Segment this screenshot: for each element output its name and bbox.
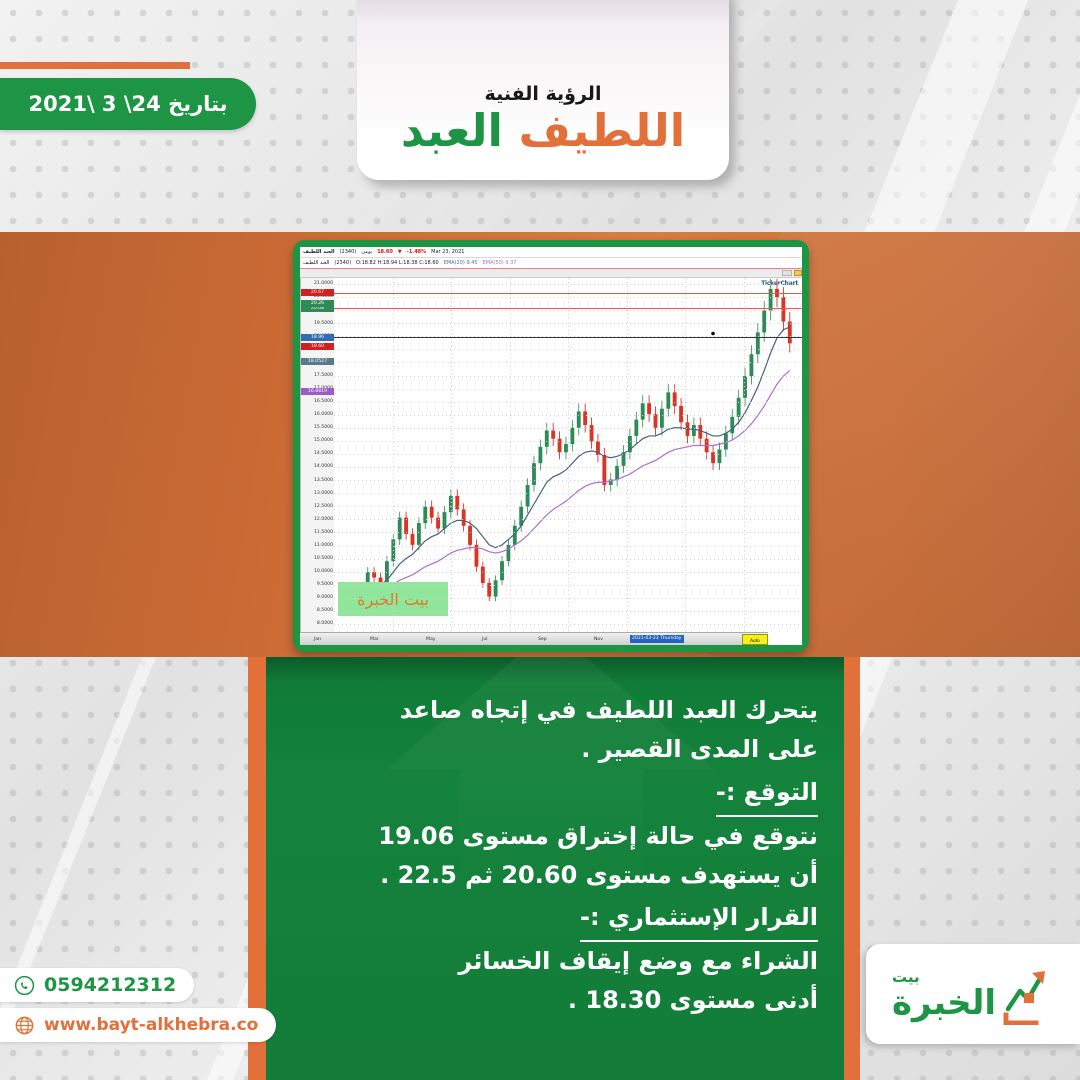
chart-timeframe: يومي (361, 247, 372, 258)
chart-last-price: 18.60 (377, 247, 393, 258)
grid-line-vertical (510, 278, 511, 632)
time-axis-selected-date: 2021-03-23 Thursday (630, 635, 684, 643)
price-axis-tick: 10.0000 (314, 569, 333, 574)
time-axis-tick: Sep (538, 637, 547, 642)
price-marker: 18.96 (301, 334, 334, 341)
price-axis-tick: 12.0000 (314, 517, 333, 522)
chart-info-row-2: العبد اللطيف (2340) O:18.82 H:18.94 L:18… (300, 258, 802, 269)
chart-price-axis: 21.000020.500020.000019.500019.000018.50… (300, 278, 334, 632)
price-marker: 20.26 (301, 300, 334, 307)
chart-ohlc: O:18.82 H:18.94 L:18.38 C:18.60 (356, 258, 439, 269)
price-marker: 18.0527 (301, 358, 334, 365)
chart-application-window[interactable]: العبد اللطيف (2340) يومي 18.60 ▼ -1.48% … (300, 247, 802, 645)
time-axis-tick: Jan (314, 637, 321, 642)
chart-plot-area[interactable]: TickerChart بيت الخبرة (334, 278, 802, 632)
analysis-line: يتحرك العبد اللطيف في إتجاه صاعد (292, 691, 818, 730)
chart-time-axis[interactable]: JanMarMayJulSepNovMar2021-03-23 Thursday… (300, 632, 768, 645)
time-axis-tick: Mar (370, 637, 379, 642)
toolbar-cursor-icon[interactable] (794, 270, 802, 276)
price-axis-tick: 14.0000 (314, 464, 333, 469)
time-axis-tick: Jul (482, 637, 488, 642)
forecast-heading: التوقع :- (716, 773, 818, 817)
price-axis-tick: 9.5000 (317, 582, 333, 587)
chart-info-row-1: العبد اللطيف (2340) يومي 18.60 ▼ -1.48% … (300, 247, 802, 258)
title-card: الرؤية الفنية اللطيف العبد (357, 0, 729, 180)
forecast-line: أن يستهدف مستوى 20.60 ثم 22.5 . (292, 856, 818, 895)
price-axis-tick: 8.0000 (317, 621, 333, 626)
price-axis-tick: 16.5000 (314, 399, 333, 404)
price-axis-tick: 12.5000 (314, 504, 333, 509)
contact-website-pill[interactable]: www.bayt-alkhebra.co (0, 1008, 276, 1042)
chart-change-percent: -1.48% (407, 247, 426, 258)
panel-right-orange-strip (844, 657, 860, 1080)
chart-down-arrow-icon: ▼ (398, 247, 402, 258)
decision-line: الشراء مع وضع إيقاف الخسائر (292, 942, 818, 981)
price-axis-tick: 8.5000 (317, 608, 333, 613)
chart-ema20-legend: EMA(20) 9.45 (444, 258, 478, 269)
chart-row2-code: (2340) (334, 258, 351, 269)
grid-line-vertical (685, 278, 686, 632)
chart-symbol-name: العبد اللطيف (303, 247, 335, 258)
resistance-line (334, 293, 802, 294)
growth-arrow-house-icon (1002, 963, 1054, 1025)
grid-line-vertical (568, 278, 569, 632)
price-axis-tick: 21.0000 (314, 281, 333, 286)
decision-heading: القرار الإستثماري :- (580, 898, 818, 942)
resistance-line (334, 308, 802, 309)
price-axis-tick: 11.5000 (314, 530, 333, 535)
decision-line: أدنى مستوى 18.30 . (292, 981, 818, 1020)
forecast-line: نتوقع في حالة إختراق مستوى 19.06 (292, 817, 818, 856)
title-card-gloss (357, 0, 729, 24)
chart-frame: العبد اللطيف (2340) يومي 18.60 ▼ -1.48% … (293, 240, 809, 652)
grid-line-vertical (393, 278, 394, 632)
date-badge: بتاريخ 24\ 3 \2021 (0, 78, 256, 130)
price-axis-tick: 11.0000 (314, 543, 333, 548)
price-marker: 20.67 (301, 289, 334, 296)
title-subtitle: الرؤية الفنية (485, 83, 602, 105)
whatsapp-icon (14, 975, 35, 996)
chart-row2-label: العبد اللطيف (303, 258, 329, 269)
price-axis-tick: 13.5000 (314, 478, 333, 483)
chart-ema50-legend: EMA(50) 9.37 (483, 258, 517, 269)
title-main-orange-word: اللطيف (519, 104, 686, 157)
chart-toolbar[interactable] (300, 269, 802, 278)
price-axis-tick: 19.5000 (314, 321, 333, 326)
brand-logo-card[interactable]: بيت الخبرة (866, 944, 1080, 1044)
grid-line-vertical (744, 278, 745, 632)
title-main-green-word: العبد (401, 104, 503, 157)
chart-plot-wrapper: TickerChart بيت الخبرة 21.000020.500020.… (300, 278, 802, 632)
time-axis-auto-button[interactable]: Auto (742, 634, 768, 645)
support-line (334, 337, 802, 338)
price-axis-tick: 15.5000 (314, 425, 333, 430)
decision-heading-wrap: القرار الإستثماري :- (292, 898, 818, 942)
price-marker: 18.60 (301, 343, 334, 350)
globe-icon (14, 1015, 35, 1036)
analysis-line: على المدى القصير . (292, 730, 818, 769)
grid-line-vertical (627, 278, 628, 632)
price-axis-tick: 17.5000 (314, 373, 333, 378)
toolbar-options-icon[interactable] (782, 270, 792, 276)
price-axis-tick: 16.0000 (314, 412, 333, 417)
price-axis-tick: 9.0000 (317, 595, 333, 600)
chart-symbol-code: (2340) (340, 247, 357, 258)
date-badge-label: بتاريخ 24\ 3 \2021 (28, 92, 227, 116)
top-orange-rule (0, 62, 190, 69)
grid-line-vertical (451, 278, 452, 632)
time-axis-tick: Nov (594, 637, 603, 642)
chart-date: Mar 23, 2021 (431, 247, 464, 258)
forecast-heading-wrap: التوقع :- (292, 773, 818, 817)
analysis-text-panel: يتحرك العبد اللطيف في إتجاه صاعد على الم… (266, 657, 844, 1080)
price-axis-tick: 14.5000 (314, 451, 333, 456)
logo-word-main: الخبرة (892, 986, 996, 1020)
title-main: اللطيف العبد (401, 107, 685, 154)
price-axis-tick: 15.0000 (314, 438, 333, 443)
time-axis-tick: May (426, 637, 436, 642)
price-marker: 16.8819 (301, 388, 334, 395)
contact-website-url: www.bayt-alkhebra.co (44, 1015, 258, 1035)
analysis-body: يتحرك العبد اللطيف في إتجاه صاعد على الم… (292, 691, 818, 1020)
contact-phone-number: 0594212312 (44, 974, 176, 996)
price-axis-tick: 13.0000 (314, 491, 333, 496)
contact-phone-pill[interactable]: 0594212312 (0, 968, 194, 1002)
price-axis-tick: 10.5000 (314, 556, 333, 561)
